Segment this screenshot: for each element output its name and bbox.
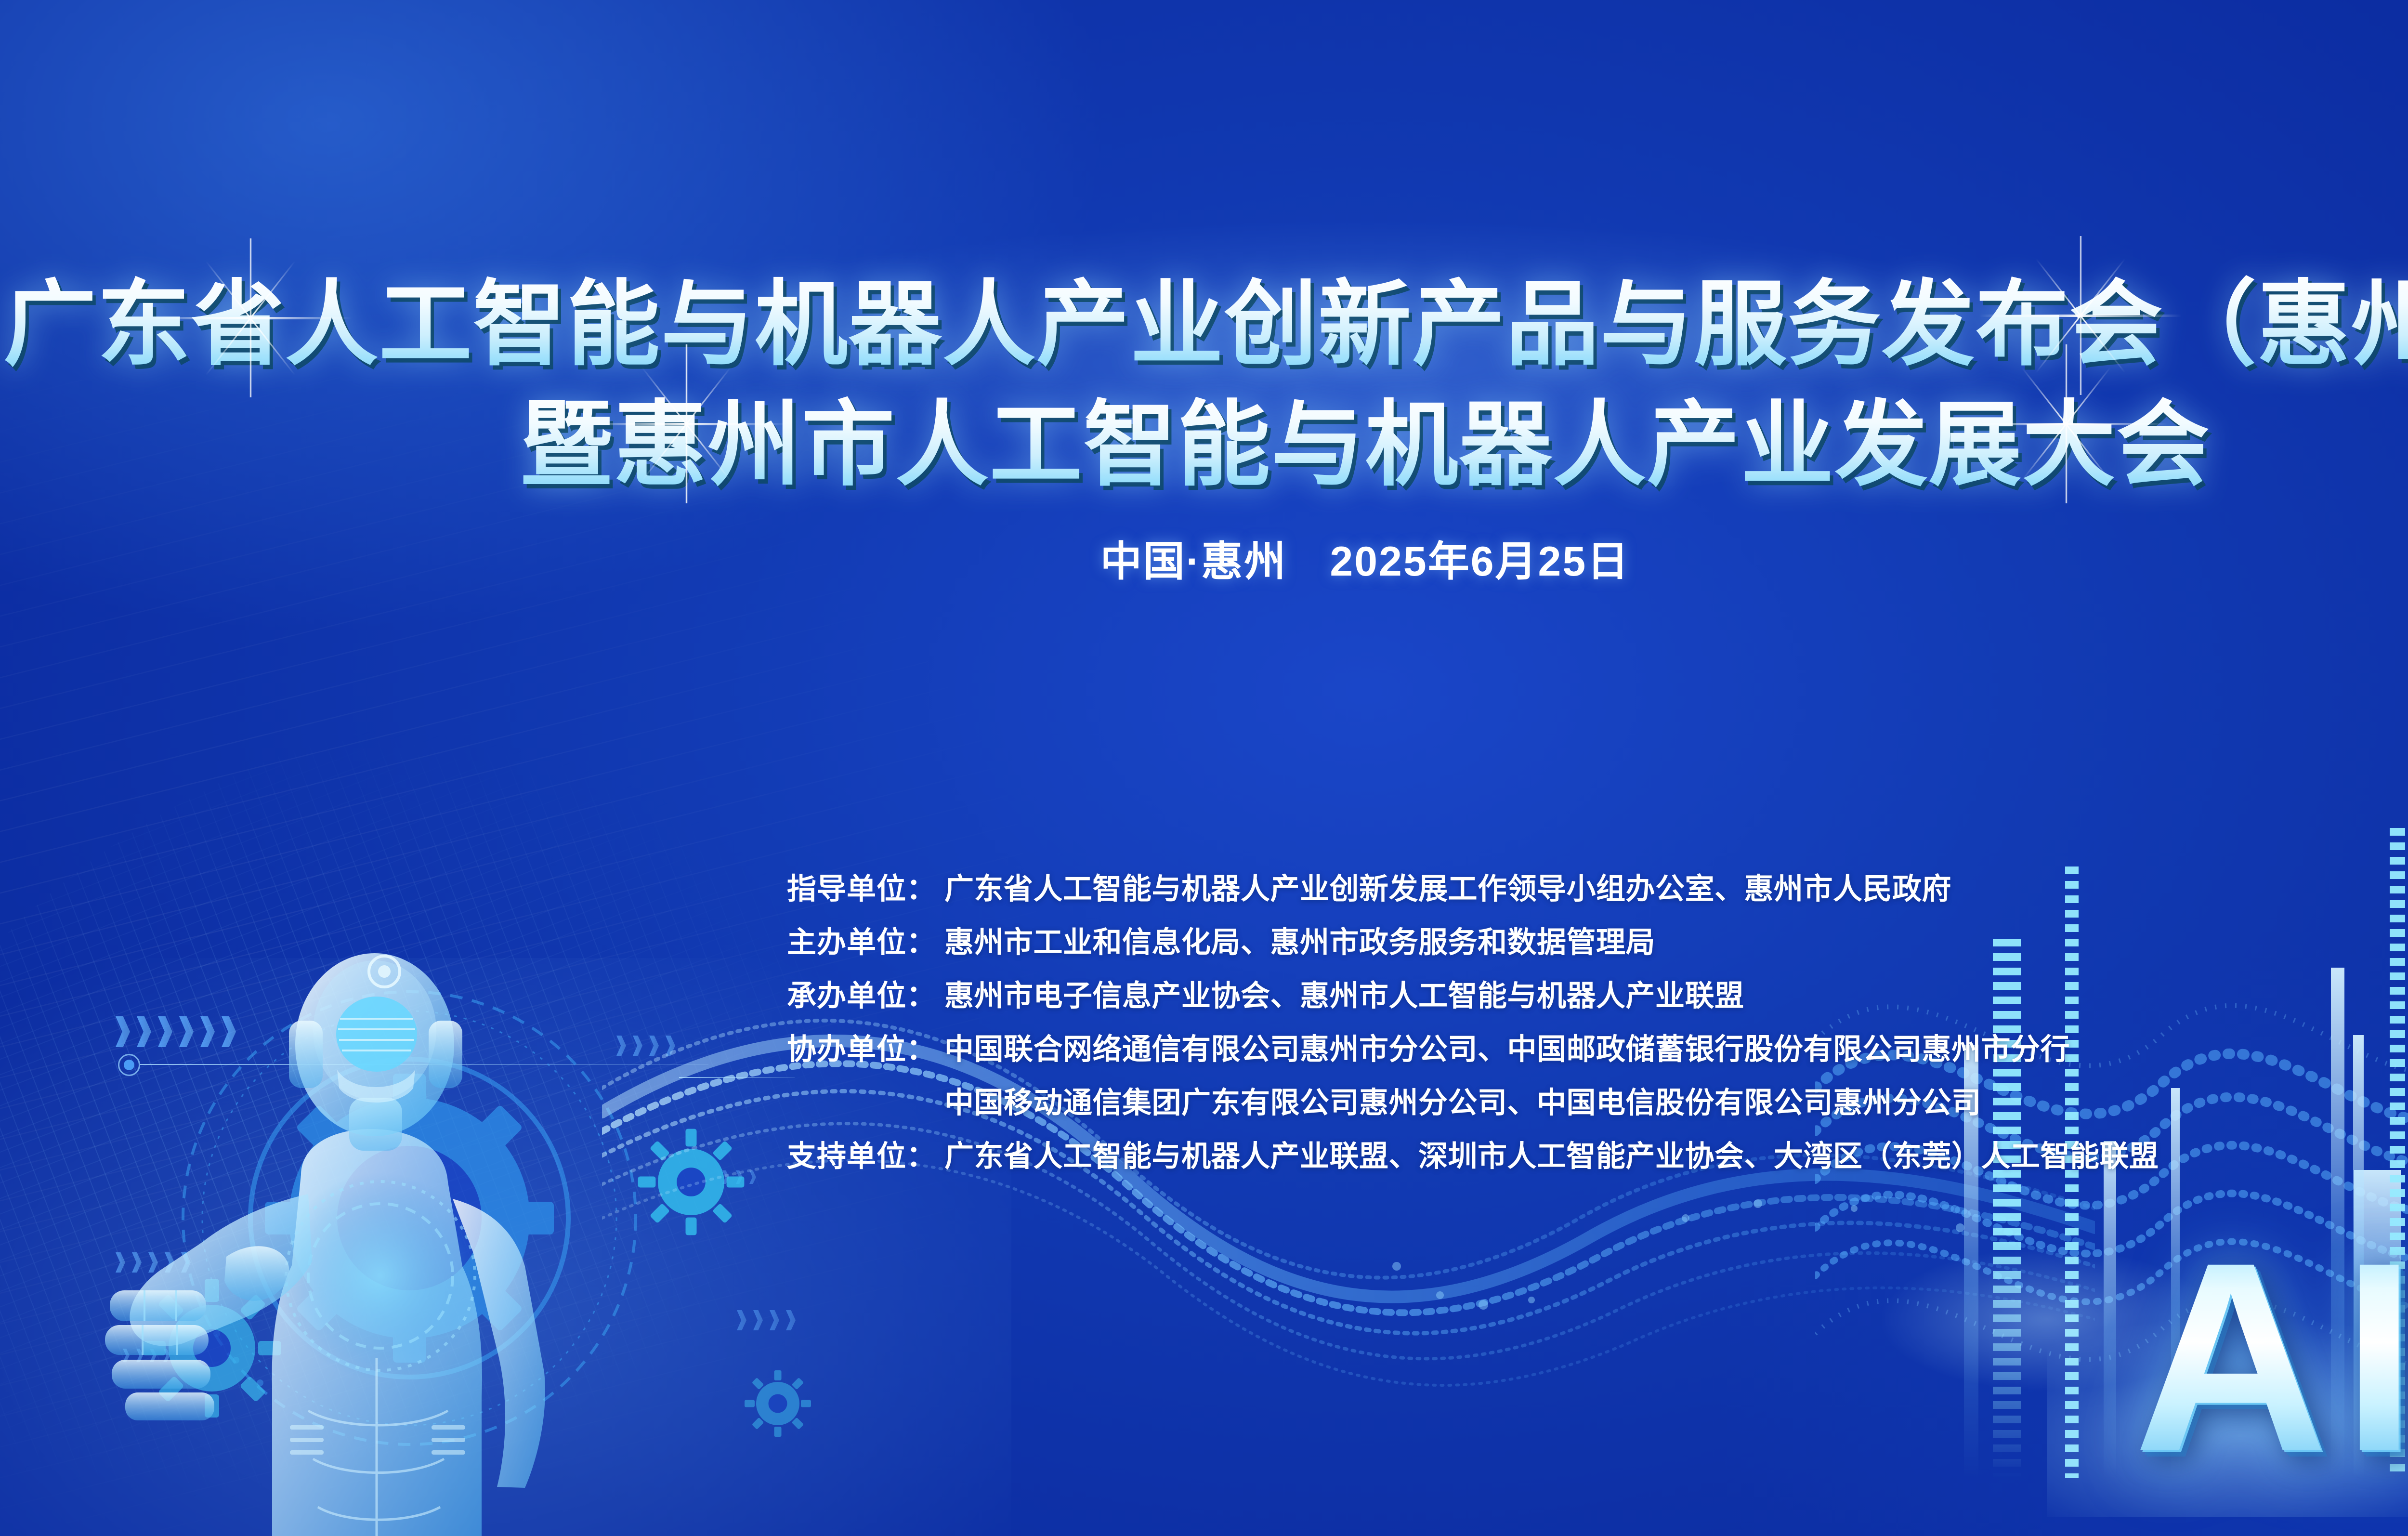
organizer-label: 支持单位: [786, 1132, 906, 1175]
organizer-row: 指导单位 ： 广东省人工智能与机器人产业创新发展工作领导小组办公室、惠州市人民政…: [786, 865, 2159, 907]
organizer-row: 支持单位 ： 广东省人工智能与机器人产业联盟、深圳市人工智能产业协会、大湾区（东…: [786, 1132, 2159, 1175]
organizer-row-continuation: 协办单位 ： 中国移动通信集团广东有限公司惠州分公司、中国电信股份有限公司惠州分…: [786, 1078, 2159, 1121]
organizer-value: 广东省人工智能与机器人产业联盟、深圳市人工智能产业协会、大湾区（东莞）人工智能联…: [944, 1132, 2159, 1175]
organizer-value: 惠州市电子信息产业协会、惠州市人工智能与机器人产业联盟: [944, 971, 1744, 1014]
organizer-label: 协办单位: [786, 1025, 906, 1068]
organizer-value: 中国联合网络通信有限公司惠州市分公司、中国邮政储蓄银行股份有限公司惠州市分行: [944, 1025, 2070, 1068]
event-location-date: 中国·惠州 2025年6月25日: [0, 527, 2408, 588]
page-title-line-1: 广东省人工智能与机器人产业创新产品与服务发布会（惠州专场）: [0, 270, 2408, 380]
organizer-row: 承办单位 ： 惠州市电子信息产业协会、惠州市人工智能与机器人产业联盟: [786, 971, 2159, 1014]
organizer-row: 协办单位 ： 中国联合网络通信有限公司惠州市分公司、中国邮政储蓄银行股份有限公司…: [786, 1025, 2159, 1068]
organizer-value: 中国移动通信集团广东有限公司惠州分公司、中国电信股份有限公司惠州分公司: [944, 1078, 1981, 1121]
organizer-colon: ：: [906, 865, 944, 907]
organizer-colon: ：: [906, 918, 944, 961]
organizer-colon: ：: [906, 971, 944, 1014]
organizer-value: 广东省人工智能与机器人产业创新发展工作领导小组办公室、惠州市人民政府: [944, 865, 1951, 907]
organizer-value: 惠州市工业和信息化局、惠州市政务服务和数据管理局: [944, 918, 1655, 961]
page-title-line-2: 暨惠州市人工智能与机器人产业发展大会: [0, 390, 2408, 500]
organizer-list: 指导单位 ： 广东省人工智能与机器人产业创新发展工作领导小组办公室、惠州市人民政…: [786, 865, 2159, 1175]
organizer-label: 承办单位: [786, 971, 906, 1014]
title-block: 广东省人工智能与机器人产业创新产品与服务发布会（惠州专场） 暨惠州市人工智能与机…: [0, 270, 2408, 588]
organizer-row: 主办单位 ： 惠州市工业和信息化局、惠州市政务服务和数据管理局: [786, 918, 2159, 961]
organizer-label: 指导单位: [786, 865, 906, 907]
organizer-colon: ：: [906, 1132, 944, 1175]
ai-logo: AI: [2133, 1235, 2408, 1478]
conference-banner: AI 广东省人工智能与机器人产业创新产品与服务发布会（惠州专场） 暨惠州市人工智…: [0, 0, 2408, 1536]
organizer-colon: ：: [906, 1025, 944, 1068]
organizer-label: 主办单位: [786, 918, 906, 961]
